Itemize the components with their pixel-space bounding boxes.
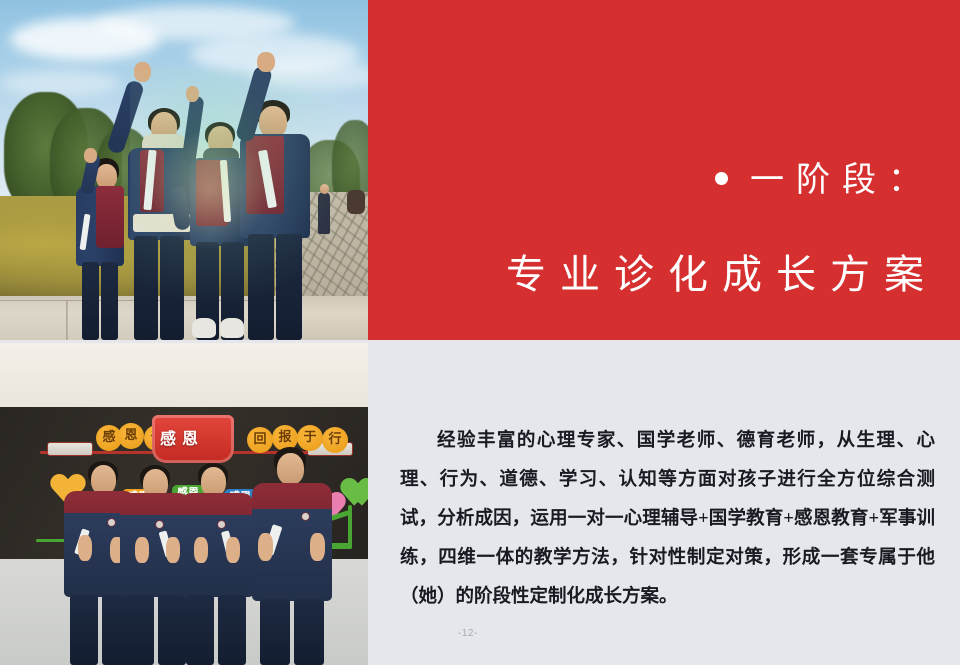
thumb-up <box>310 533 325 561</box>
thumb-up <box>258 533 273 561</box>
body-paragraph: 经验丰富的心理专家、国学老师、德育老师，从生理、心理、行为、道德、学习、认知等方… <box>400 422 935 617</box>
title-banner: 一阶段： 专业诊化成长方案 <box>368 0 960 340</box>
trousers <box>276 234 302 340</box>
trousers <box>134 236 158 340</box>
school-logo <box>302 513 309 520</box>
bystander-head <box>320 184 329 194</box>
slide-root: 感 恩 于 心 感恩 回 报 于 行 感恩 感恩 感恩 <box>0 0 960 665</box>
thumb-up <box>194 537 208 563</box>
hand-victory-sign <box>134 62 151 82</box>
face <box>277 453 304 485</box>
thumb-up <box>78 535 92 561</box>
trousers <box>101 262 118 340</box>
hand-victory-sign <box>257 52 275 72</box>
bystander <box>347 190 365 214</box>
board-center-word: 感恩 <box>152 415 204 463</box>
bystander <box>318 192 330 234</box>
trousers <box>126 595 154 665</box>
cloud <box>0 70 120 96</box>
thumb-up <box>166 537 180 563</box>
page-subtitle: 专业诊化成长方案 <box>368 242 960 300</box>
bullet-dot-icon <box>715 172 728 185</box>
photo-classroom-group: 感 恩 于 心 感恩 回 报 于 行 感恩 感恩 感恩 <box>0 343 368 665</box>
trousers <box>70 595 98 665</box>
photo-outdoor-group <box>0 0 368 340</box>
trousers <box>160 236 184 340</box>
trousers <box>186 595 214 665</box>
school-logo <box>156 521 163 528</box>
trousers <box>218 595 246 665</box>
trousers <box>82 262 99 340</box>
hand-pointing-up <box>186 86 199 102</box>
trousers <box>158 595 186 665</box>
photo-column: 感 恩 于 心 感恩 回 报 于 行 感恩 感恩 感恩 <box>0 0 368 665</box>
page-number: -12- <box>458 628 478 639</box>
shoe <box>192 318 216 338</box>
wall-upper <box>0 343 368 409</box>
decoration-sign <box>48 443 92 455</box>
school-logo <box>108 519 115 526</box>
board-word-hui: 回 <box>247 427 273 453</box>
school-logo <box>218 521 225 528</box>
shoe <box>220 318 244 338</box>
board-word-xing: 行 <box>322 427 348 453</box>
board-word-en: 恩 <box>118 423 144 449</box>
thumb-up <box>226 537 240 563</box>
path-slab <box>0 300 68 340</box>
body-panel: 经验丰富的心理专家、国学老师、德育老师，从生理、心理、行为、道德、学习、认知等方… <box>368 340 960 665</box>
jacket-red-panel <box>96 186 124 248</box>
thumb-up <box>135 537 149 563</box>
title-line-1-row: 一阶段： <box>368 152 960 201</box>
heart-decoration <box>342 475 368 505</box>
hand <box>84 148 97 163</box>
trousers <box>260 599 290 665</box>
jacket-navy <box>180 515 254 597</box>
trousers <box>248 234 274 340</box>
page-title: 一阶段： <box>750 162 934 199</box>
board-center-book: 感恩 <box>152 415 234 463</box>
board-word-yu2: 于 <box>297 425 323 451</box>
trousers <box>294 599 324 665</box>
